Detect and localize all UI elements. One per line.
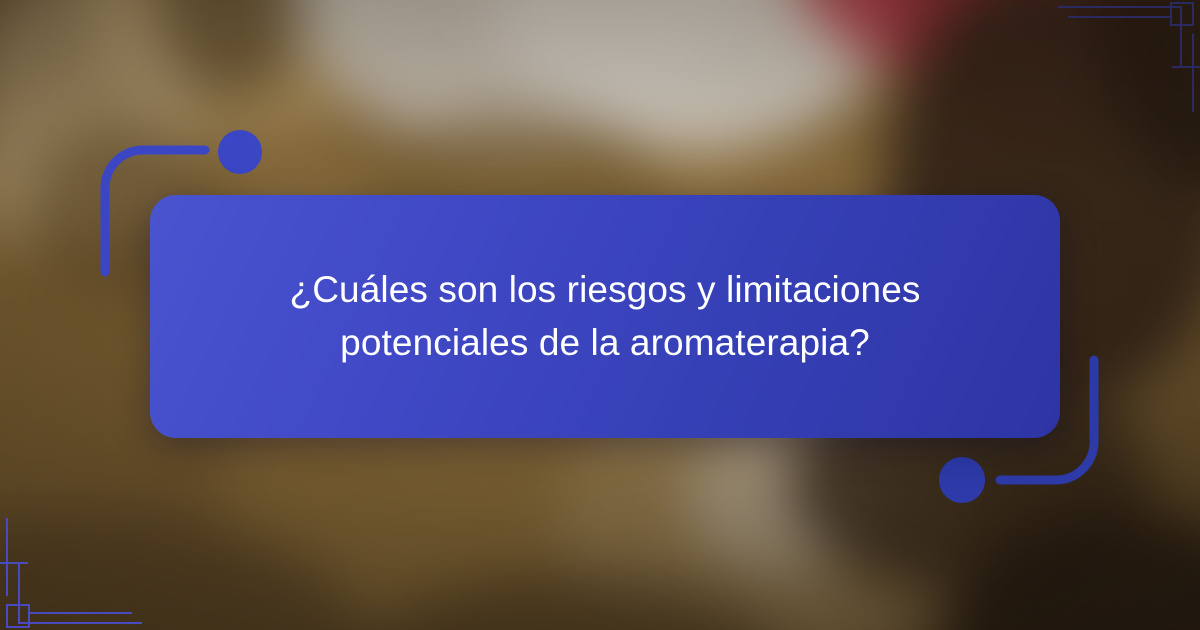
poster-canvas: ¿Cuáles son los riesgos y limitaciones p… xyxy=(0,0,1200,630)
corner-ornament-bottom-left xyxy=(0,518,160,630)
ornament-square-icon xyxy=(6,604,30,628)
question-title: ¿Cuáles son los riesgos y limitaciones p… xyxy=(220,264,990,369)
ornament-square-icon xyxy=(1170,2,1194,26)
question-card: ¿Cuáles son los riesgos y limitaciones p… xyxy=(150,195,1060,438)
corner-ornament-top-right xyxy=(1040,0,1200,112)
